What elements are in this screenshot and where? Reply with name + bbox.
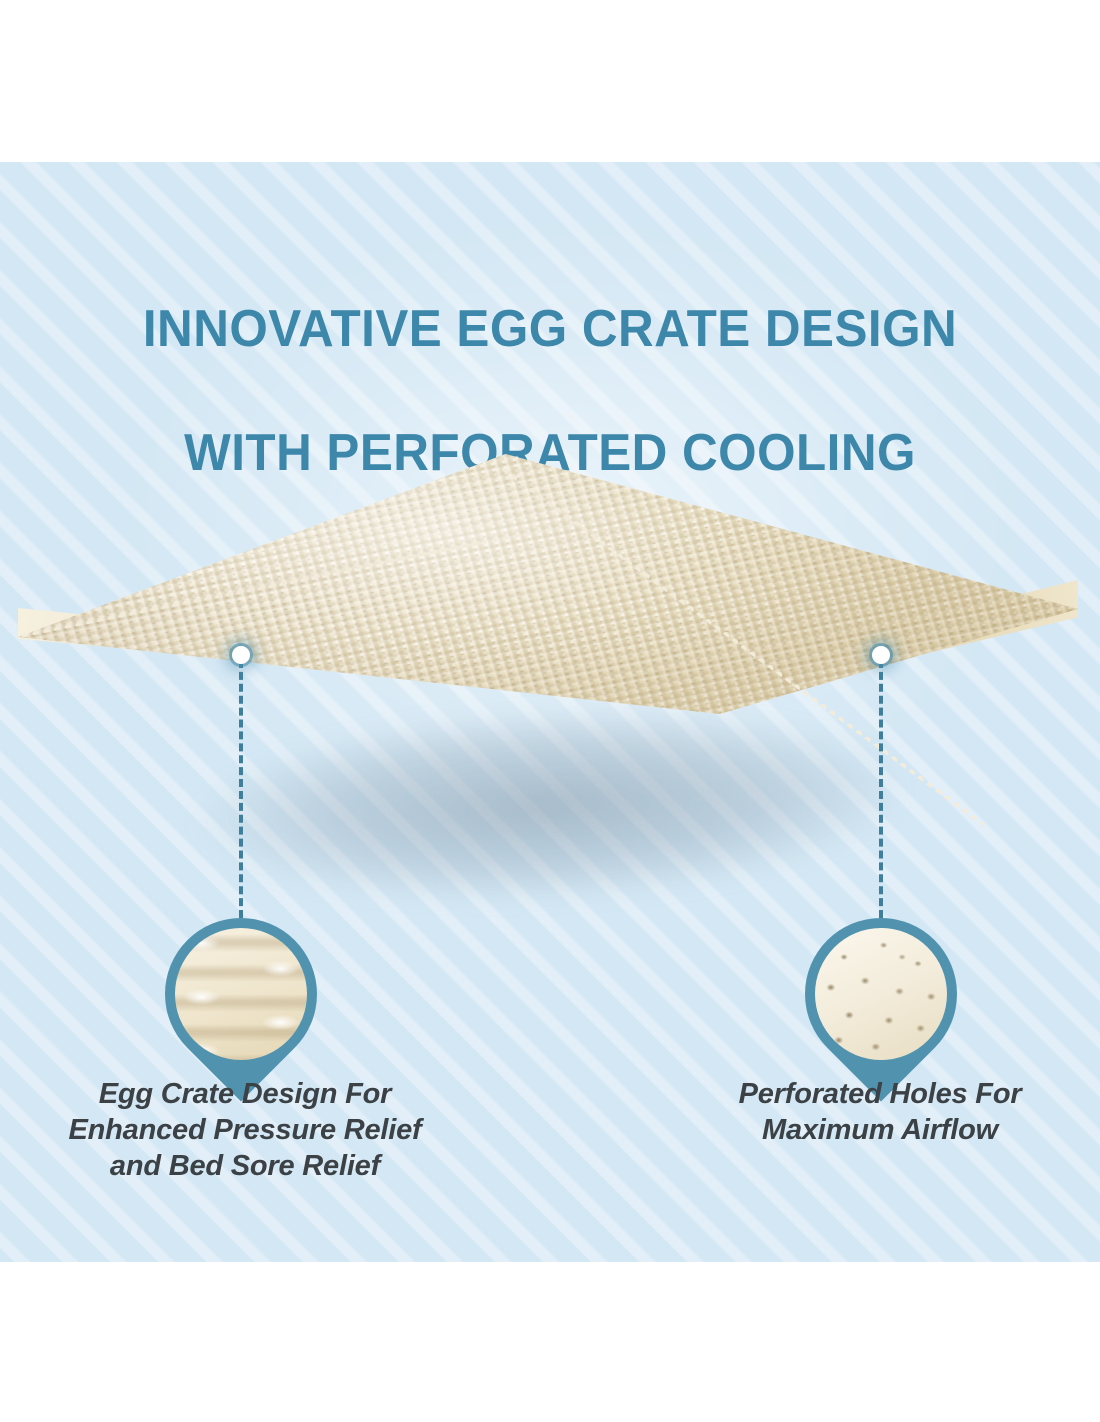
product-image-foam-topper xyxy=(0,430,1100,900)
product-drop-shadow xyxy=(90,660,1010,950)
callout-bubble-egg-crate[interactable] xyxy=(165,918,317,1070)
egg-crate-closeup-image xyxy=(175,928,307,1060)
infographic-canvas: INNOVATIVE EGG CRATE DESIGN WITH PERFORA… xyxy=(0,0,1100,1422)
callout-dashed-line-egg-crate xyxy=(239,660,243,918)
top-white-band xyxy=(0,0,1100,162)
caption-egg-crate: Egg Crate Design For Enhanced Pressure R… xyxy=(20,1076,470,1184)
callout-marker-perforated-holes-icon[interactable] xyxy=(872,646,890,664)
page-title-line-1: INNOVATIVE EGG CRATE DESIGN xyxy=(28,298,1073,360)
bottom-white-band xyxy=(0,1262,1100,1422)
perforated-holes-closeup-image xyxy=(815,928,947,1060)
callout-dashed-line-perforated-holes xyxy=(879,660,883,918)
callout-bubble-perforated-holes[interactable] xyxy=(805,918,957,1070)
callout-marker-egg-crate-icon[interactable] xyxy=(232,646,250,664)
caption-perforated-holes: Perforated Holes For Maximum Airflow xyxy=(660,1076,1100,1148)
